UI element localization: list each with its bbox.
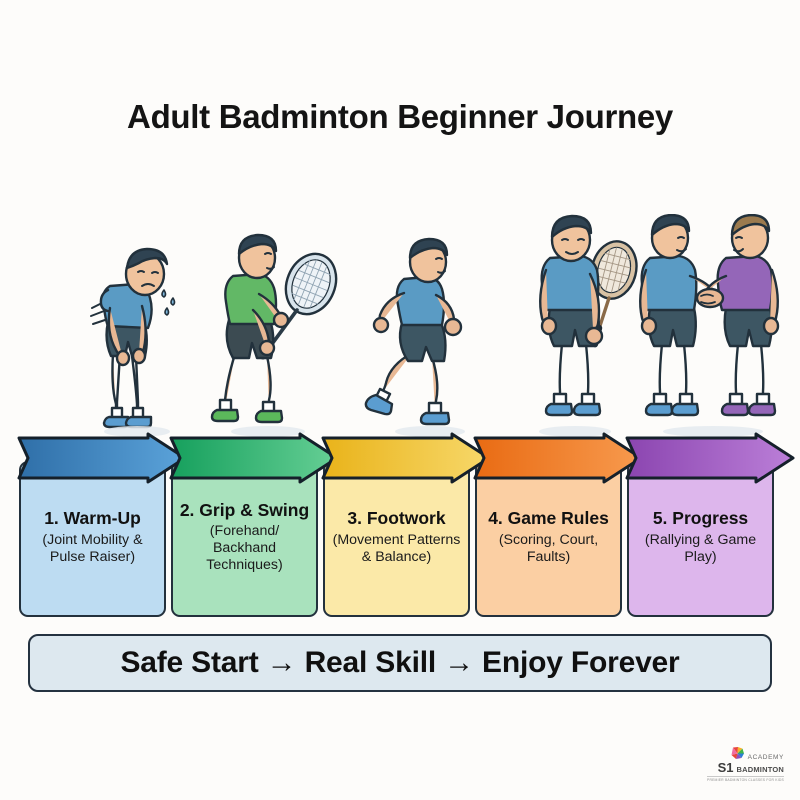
tagline-text: Safe Start → Real Skill → Enjoy Forever: [120, 646, 679, 680]
step-title: 2. Grip & Swing: [180, 500, 309, 520]
step-box-3: 3. Footwork (Movement Patterns & Balance…: [323, 461, 470, 617]
figure-person-holding-racket-ready-stance: [205, 232, 355, 432]
step-4-game-rules[interactable]: 4. Game Rules (Scoring, Court, Faults): [472, 432, 644, 617]
step-arrow-1: [16, 432, 188, 484]
logo-mark-row: ACADEMY: [730, 746, 784, 761]
figure-person-running-lunging: [360, 237, 500, 432]
logo-tagline-text: PREMIER BADMINTON CLASSES FOR KIDS: [707, 776, 784, 782]
brand-logo: ACADEMY S1 BADMINTON PREMIER BADMINTON C…: [696, 744, 784, 784]
step-arrow-4: [472, 432, 644, 484]
step-5-progress[interactable]: 5. Progress (Rallying & Game Play): [624, 432, 796, 617]
grip-swing-illustration: [205, 232, 355, 432]
step-1-warm-up[interactable]: 1. Warm-Up (Joint Mobility & Pulse Raise…: [16, 432, 188, 617]
figure-person-bending-over-tired: [72, 242, 202, 432]
logo-s1-text: S1: [718, 761, 734, 774]
step-2-grip-and-swing[interactable]: 2. Grip & Swing (Forehand/ Backhand Tech…: [168, 432, 340, 617]
step-arrow-2: [168, 432, 340, 484]
logo-badminton-text: BADMINTON: [737, 765, 785, 774]
journey-steps-band: 1. Warm-Up (Joint Mobility & Pulse Raise…: [16, 432, 784, 617]
step-box-5: 5. Progress (Rallying & Game Play): [627, 461, 774, 617]
step-box-4: 4. Game Rules (Scoring, Court, Faults): [475, 461, 622, 617]
step-3-footwork[interactable]: 3. Footwork (Movement Patterns & Balance…: [320, 432, 492, 617]
step-box-2: 2. Grip & Swing (Forehand/ Backhand Tech…: [171, 461, 318, 617]
progress-illustration: [630, 214, 795, 432]
step-arrow-3: [320, 432, 492, 484]
illustration-row: [30, 200, 770, 432]
step-box-1: 1. Warm-Up (Joint Mobility & Pulse Raise…: [19, 461, 166, 617]
step-title: 1. Warm-Up: [44, 508, 141, 528]
step-title: 4. Game Rules: [488, 508, 609, 528]
step-subtitle: (Scoring, Court, Faults): [482, 532, 615, 566]
figure-two-people-shaking-hands: [630, 214, 795, 432]
tagline-banner: Safe Start → Real Skill → Enjoy Forever: [28, 634, 772, 692]
step-subtitle: (Movement Patterns & Balance): [330, 532, 463, 566]
infographic-poster: Adult Badminton Beginner Journey: [0, 0, 800, 800]
shuttlecock-burst-icon: [730, 746, 745, 761]
step-subtitle: (Joint Mobility & Pulse Raiser): [26, 532, 159, 566]
step-arrow-5: [624, 432, 796, 484]
step-title: 3. Footwork: [347, 508, 445, 528]
footwork-illustration: [360, 237, 500, 432]
warm-up-illustration: [72, 242, 202, 432]
step-title: 5. Progress: [653, 508, 748, 528]
step-subtitle: (Forehand/ Backhand Techniques): [178, 523, 311, 574]
logo-academy-text: ACADEMY: [748, 754, 784, 761]
logo-name-row: S1 BADMINTON: [718, 761, 784, 774]
page-title: Adult Badminton Beginner Journey: [0, 98, 800, 136]
step-subtitle: (Rallying & Game Play): [634, 532, 767, 566]
